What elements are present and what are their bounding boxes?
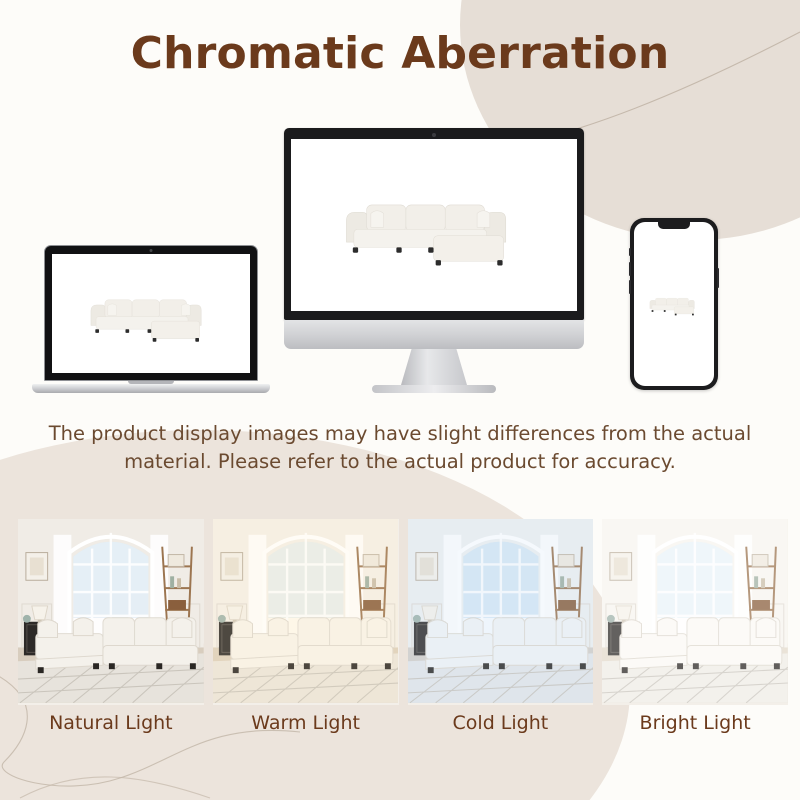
- phone-mockup: [630, 218, 718, 390]
- device-mockups: [0, 120, 800, 400]
- camera-icon: [432, 133, 436, 137]
- sofa-product-image-monitor: [291, 139, 577, 311]
- disclaimer-line-1: The product display images may have slig…: [30, 420, 770, 448]
- camera-icon: [150, 249, 153, 252]
- disclaimer-text: The product display images may have slig…: [30, 420, 770, 477]
- room-scene: [18, 519, 204, 703]
- tile-label-cool: Cold Light: [408, 712, 594, 734]
- monitor-mockup: [284, 128, 584, 393]
- room-scene: [408, 519, 594, 703]
- laptop-base: [32, 384, 270, 393]
- tile-label-warm: Warm Light: [213, 712, 399, 734]
- monitor-screen: [291, 139, 577, 311]
- lighting-comparison-labels: Natural LightWarm LightCold LightBright …: [18, 712, 788, 734]
- lighting-tile-bright: [602, 519, 788, 705]
- room-scene: [213, 519, 399, 703]
- monitor-bezel: [284, 128, 584, 320]
- room-scene: [602, 519, 788, 703]
- sofa-product-image-phone: [634, 222, 714, 386]
- laptop-lid: [44, 245, 258, 381]
- laptop-mockup: [32, 245, 270, 393]
- laptop-screen: [52, 254, 250, 373]
- lighting-tile-neutral: [18, 519, 204, 705]
- lighting-tile-warm: [213, 519, 399, 705]
- monitor-chin: [284, 320, 584, 349]
- sofa-product-image-laptop: [52, 254, 250, 373]
- infographic-page: Chromatic Aberration: [0, 0, 800, 800]
- monitor-stand-foot: [372, 385, 496, 393]
- disclaimer-line-2: material. Please refer to the actual pro…: [30, 448, 770, 476]
- tile-label-neutral: Natural Light: [18, 712, 204, 734]
- phone-mute-switch: [629, 248, 631, 256]
- phone-volume-down-button: [629, 280, 631, 294]
- lighting-comparison-grid: [18, 519, 788, 705]
- phone-volume-up-button: [629, 262, 631, 276]
- phone-notch: [658, 222, 690, 229]
- lighting-tile-cool: [408, 519, 594, 705]
- phone-power-button: [717, 268, 719, 288]
- page-title: Chromatic Aberration: [0, 28, 800, 79]
- monitor-stand-neck: [401, 349, 467, 385]
- phone-screen: [634, 222, 714, 386]
- phone-frame: [630, 218, 718, 390]
- tile-label-bright: Bright Light: [602, 712, 788, 734]
